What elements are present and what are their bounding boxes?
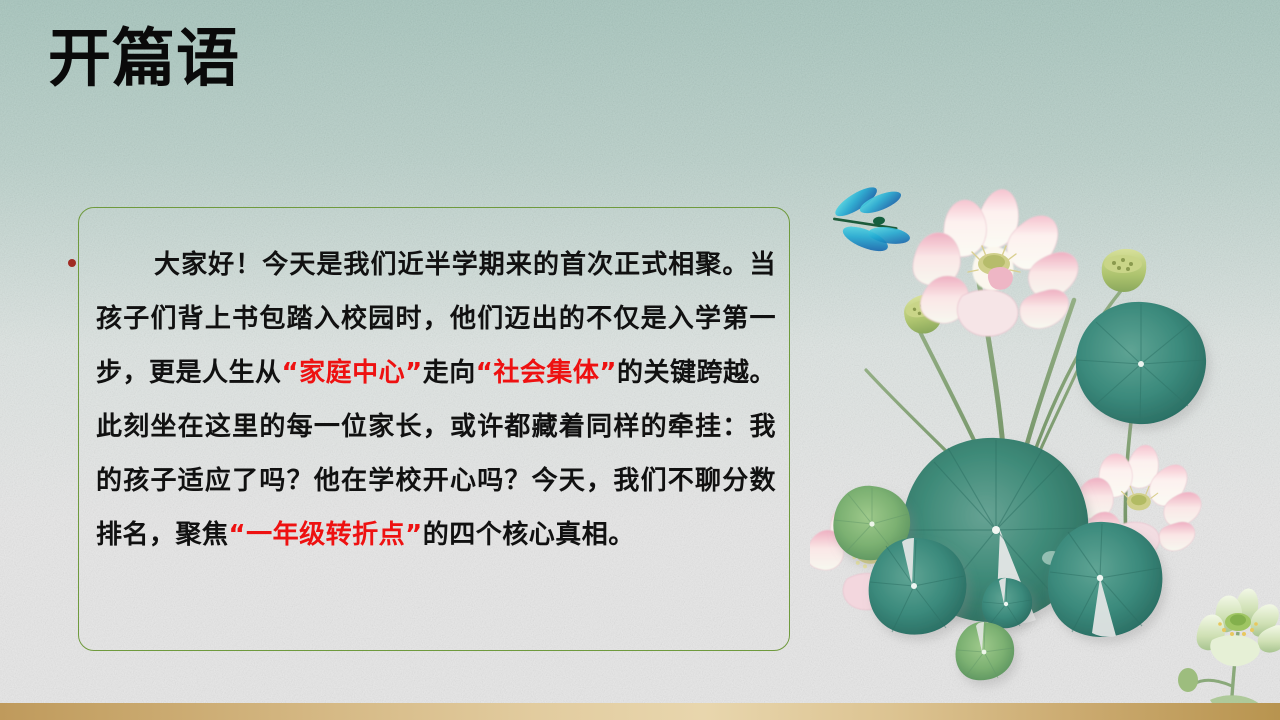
lily-pad-medium	[1048, 522, 1163, 637]
lotus-flower-upper	[913, 189, 1078, 336]
body-paragraph: 大家好！今天是我们近半学期来的首次正式相聚。当孩子们背上书包踏入校园时，他们迈出…	[96, 238, 776, 562]
highlighted-phrase: “家庭中心”	[282, 358, 423, 388]
lily-pad-medium	[1076, 302, 1206, 424]
slide-canvas: 开篇语	[0, 0, 1280, 720]
bottom-accent-bar	[0, 703, 1280, 720]
lotus-pond-illustration	[810, 180, 1280, 720]
lotus-flower-left	[810, 498, 932, 610]
lotus-seed-pod-upper	[1102, 249, 1147, 292]
lily-pad-small	[833, 486, 910, 560]
lotus-flower-lower	[1077, 445, 1202, 558]
highlighted-phrase: “一年级转折点”	[229, 520, 423, 550]
lily-pad-large	[902, 438, 1089, 624]
lotus-seed-pod-lower	[901, 292, 947, 338]
lily-pad-medium	[869, 538, 967, 635]
lotus-stems	[866, 276, 1140, 572]
dragonfly-icon	[829, 180, 914, 262]
lily-pad-small	[982, 578, 1032, 628]
corner-lotus-bud	[1178, 588, 1280, 714]
paragraph-text: 走向	[423, 358, 476, 388]
paragraph-text: 的四个核心真相。	[423, 520, 635, 550]
highlighted-phrase: “社会集体”	[476, 358, 617, 388]
slide-title: 开篇语	[48, 23, 240, 95]
lily-pad-small	[956, 622, 1015, 680]
red-dot-bullet	[68, 259, 76, 267]
